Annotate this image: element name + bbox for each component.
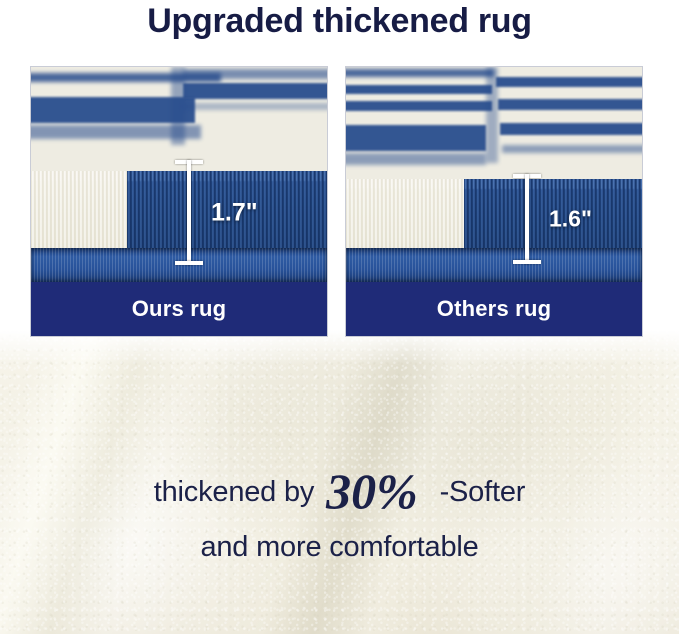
tagline-line-1: thickened by 30% -Softer [0,466,679,516]
tagline: thickened by 30% -Softer and more comfor… [0,466,679,562]
page-title: Upgraded thickened rug [0,2,679,41]
rug-binding-edge-ours [31,248,327,282]
caption-label-ours: Ours rug [132,296,227,322]
caption-bar-others: Others rug [346,282,642,336]
comparison-panel-others: Others rug [345,66,643,337]
comparison-panel-ours: Ours rug [30,66,328,337]
tagline-percent-highlight: 30% [322,463,422,519]
rug-binding-edge-others [346,248,642,282]
caption-label-others: Others rug [437,296,551,322]
caption-bar-ours: Ours rug [31,282,327,336]
tagline-suffix: -Softer [440,476,526,508]
rug-surface-others [346,67,642,179]
product-infographic: Upgraded thickened rug Ours rug 1.7" [0,0,679,634]
tagline-line-2: and more comfortable [0,533,679,562]
tagline-prefix: thickened by [154,476,314,508]
rug-surface-ours [31,67,327,171]
